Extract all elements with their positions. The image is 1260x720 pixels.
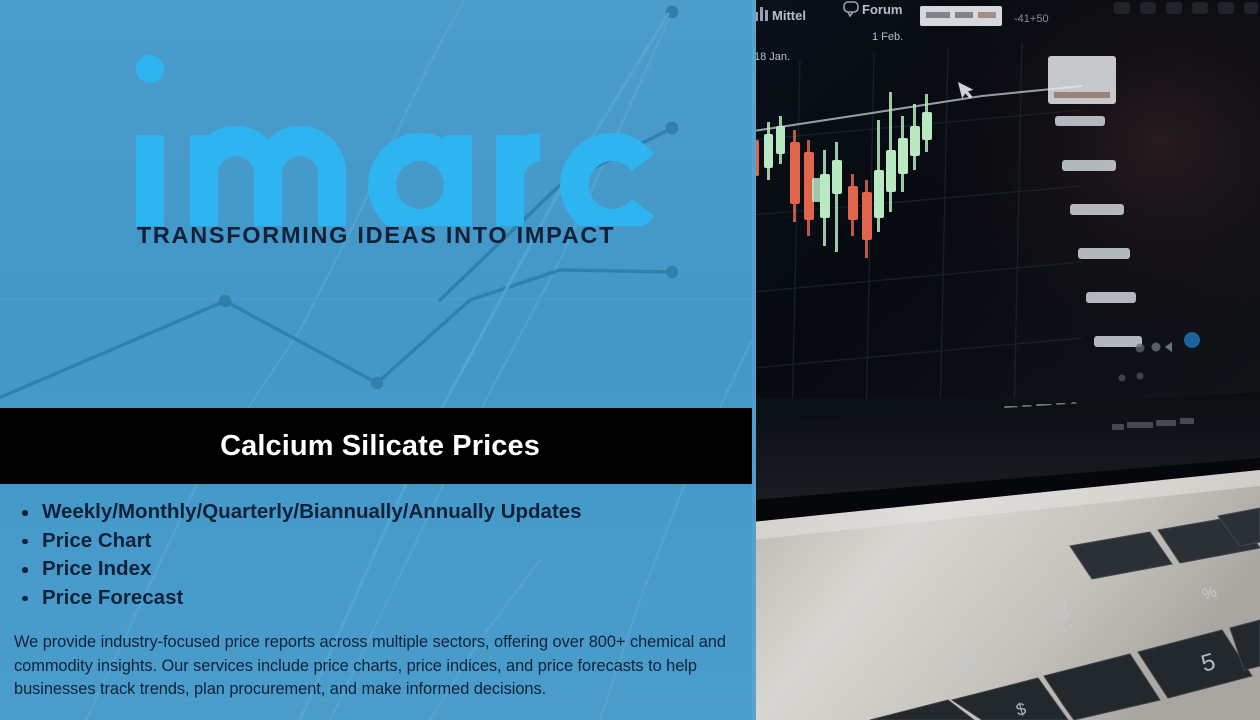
feature-label: Weekly/Monthly/Quarterly/Biannually/Annu… (42, 500, 582, 523)
screen-label-mittel: Mittel (772, 8, 806, 23)
bullet-dot-icon (22, 596, 28, 602)
list-item: Price Forecast (42, 584, 752, 613)
bullet-dot-icon (22, 510, 28, 516)
laptop-trading-photo: Mittel Forum 1 Feb. 18 Jan. (752, 0, 1260, 720)
screen-label-date-right: 1 Feb. (872, 31, 903, 43)
feature-list: Weekly/Monthly/Quarterly/Biannually/Annu… (0, 498, 752, 612)
feature-label: Price Chart (42, 529, 151, 552)
product-title-banner: Calcium Silicate Prices (0, 408, 752, 484)
screen-label-date-left: 18 Jan. (754, 51, 790, 63)
panel-photo-divider (752, 0, 756, 720)
trading-screen-illustration: Mittel Forum 1 Feb. 18 Jan. (752, 0, 1260, 720)
list-item: Weekly/Monthly/Quarterly/Biannually/Annu… (42, 498, 752, 527)
description-paragraph: We provide industry-focused price report… (14, 631, 738, 702)
feature-label: Price Forecast (42, 586, 183, 609)
list-item: Price Index (42, 555, 752, 584)
feature-label: Price Index (42, 557, 151, 580)
brand-tagline: TRANSFORMING IDEAS INTO IMPACT (0, 222, 752, 249)
svg-text:-41+50: -41+50 (1014, 13, 1049, 25)
bullet-dot-icon (22, 567, 28, 573)
left-info-panel: imarc TRANSFORMING IDEAS INTO IMPACT Cal… (0, 0, 752, 720)
screen-label-forum: Forum (862, 2, 902, 17)
bullet-dot-icon (22, 539, 28, 545)
imarc-logo: imarc (0, 34, 752, 226)
price-report-poster: imarc TRANSFORMING IDEAS INTO IMPACT Cal… (0, 0, 1260, 720)
page-title: Calcium Silicate Prices (212, 430, 540, 463)
imarc-wordmark-icon (0, 34, 752, 226)
list-item: Price Chart (42, 527, 752, 556)
